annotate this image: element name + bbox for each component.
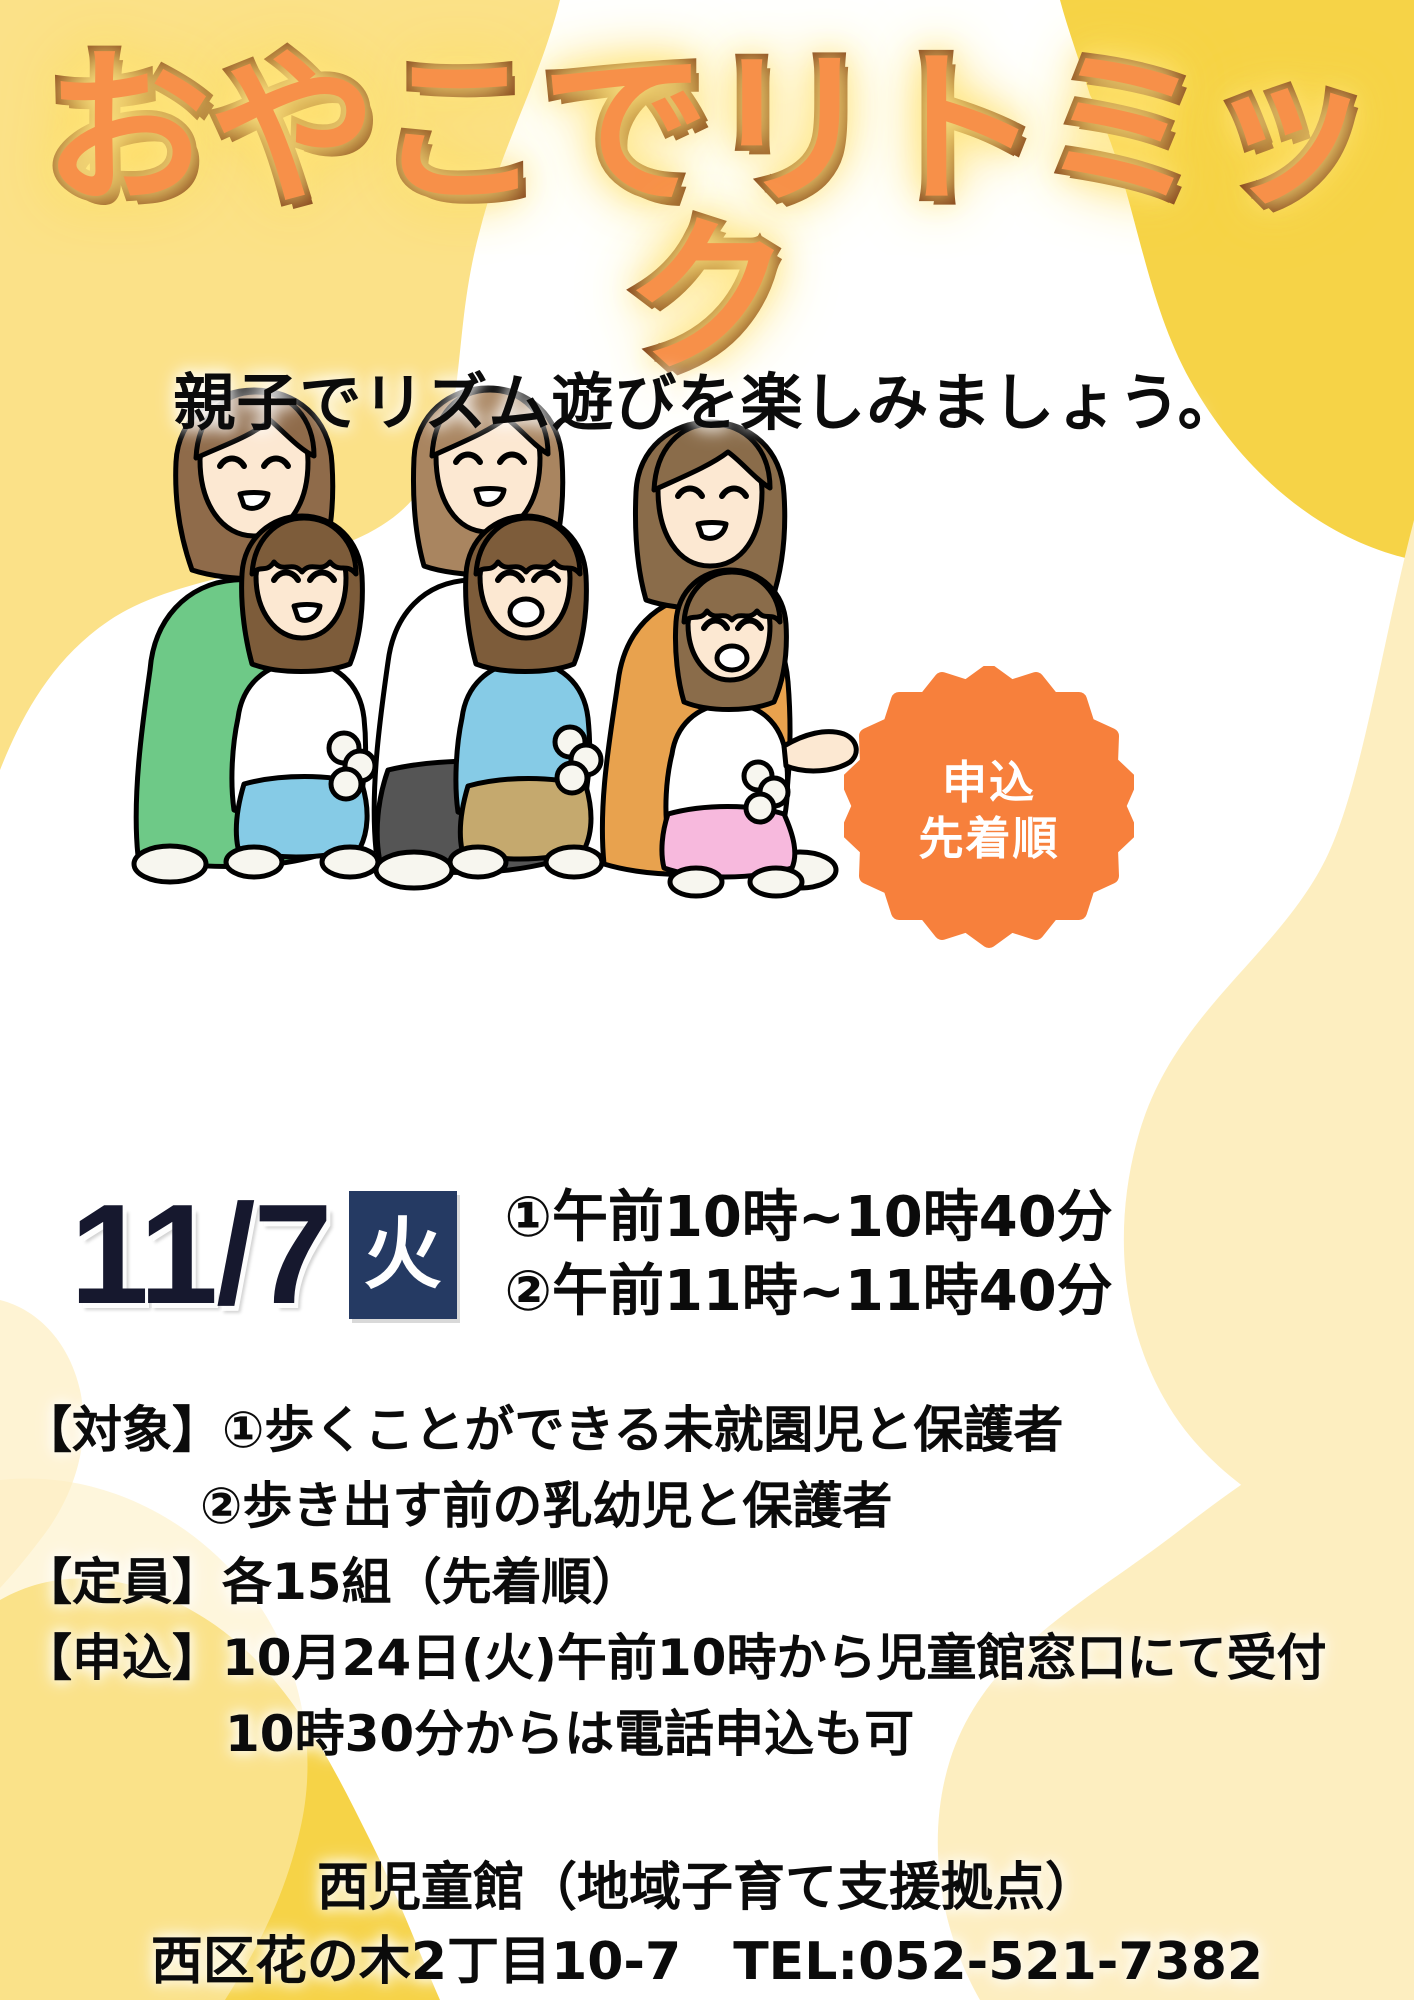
page-title: おやこでリトミック: [0, 46, 1414, 382]
child2-mouth: [510, 599, 542, 625]
child1-mouth: [294, 605, 320, 621]
child2-shoe-left: [450, 847, 506, 877]
child1-shoe-left: [226, 847, 282, 877]
detail-phone-application: 10時30分からは電話申込も可: [0, 1696, 1414, 1772]
child2-shoe-right: [546, 847, 602, 877]
weekday-badge: 火: [349, 1191, 457, 1319]
adult1-mouth: [240, 493, 268, 509]
details-block: 【対象】①歩くことができる未就園児と保護者 ②歩き出す前の乳幼児と保護者 【定員…: [0, 1392, 1414, 1772]
detail-application: 【申込】10月24日(火)午前10時から児童館窓口にて受付: [0, 1620, 1414, 1696]
venue-address-tel: 西区花の木2丁目10-7 TEL:052-521-7382: [0, 1926, 1414, 2000]
adult2-mouth: [476, 489, 504, 505]
child3-shoe-right: [750, 868, 802, 896]
child3-shoe-left: [670, 868, 722, 896]
subtitle: 親子でリズム遊びを楽しみましょう。: [0, 352, 1414, 442]
scallop-badge-shape: [844, 666, 1134, 956]
detail-capacity: 【定員】各15組（先着順）: [0, 1544, 1414, 1620]
footer-block: 西児童館（地域子育て支援拠点） 西区花の木2丁目10-7 TEL:052-521…: [0, 1852, 1414, 2000]
detail-target-2: ②歩き出す前の乳幼児と保護者: [0, 1468, 1414, 1544]
poster-root: おやこでリトミック 親子でリズム遊びを楽しみましょう。: [0, 0, 1414, 2000]
title-block: おやこでリトミック: [0, 46, 1414, 382]
session-time-2: ②午前11時~11時40分: [505, 1256, 1113, 1328]
adult1-foot: [134, 846, 206, 882]
session-time-1: ①午前10時~10時40分: [505, 1182, 1113, 1254]
child1-shoe-right: [322, 847, 378, 877]
session-times: ①午前10時~10時40分 ②午前11時~11時40分: [505, 1182, 1113, 1327]
event-date: 11/7: [70, 1184, 331, 1326]
detail-target-1: 【対象】①歩くことができる未就園児と保護者: [0, 1392, 1414, 1468]
venue-name: 西児童館（地域子育て支援拠点）: [0, 1852, 1414, 1926]
child3-mouth: [717, 646, 747, 670]
adult3-mouth: [698, 523, 726, 539]
status-badge-first-come: 申込 先着順: [844, 666, 1134, 956]
illustration-parents-and-children: [58, 370, 918, 930]
schedule-row: 11/7 火 ①午前10時~10時40分 ②午前11時~11時40分: [0, 1170, 1414, 1340]
adult2-foot: [376, 852, 452, 888]
